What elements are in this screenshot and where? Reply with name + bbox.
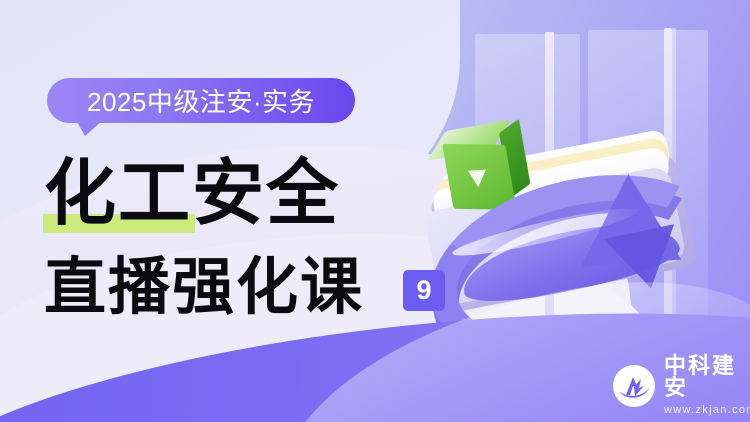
course-subject-badge-label: 2025中级注安·实务 — [87, 82, 315, 119]
play-triangle-icon — [468, 170, 487, 188]
brand-name-label: 中科建安 — [664, 356, 750, 400]
episode-number-label: 9 — [416, 277, 431, 304]
course-subject-badge: 2025中级注安·实务 — [47, 78, 355, 123]
brand-logo: 中科建安 www.zkjan.com — [613, 356, 750, 416]
brand-logo-text: 中科建安 www.zkjan.com — [664, 356, 750, 416]
brand-url-label: www.zkjan.com — [664, 405, 750, 416]
course-title-line-2: 直播强化课 — [44, 256, 364, 318]
course-title-line-1: 化工安全 — [44, 157, 340, 229]
course-poster: 2025中级注安·实务 化工安全 直播强化课 9 中科建安 www.zkjan.… — [0, 0, 750, 422]
episode-number-badge: 9 — [403, 270, 445, 311]
zkjan-logo-mark-icon — [613, 365, 655, 407]
